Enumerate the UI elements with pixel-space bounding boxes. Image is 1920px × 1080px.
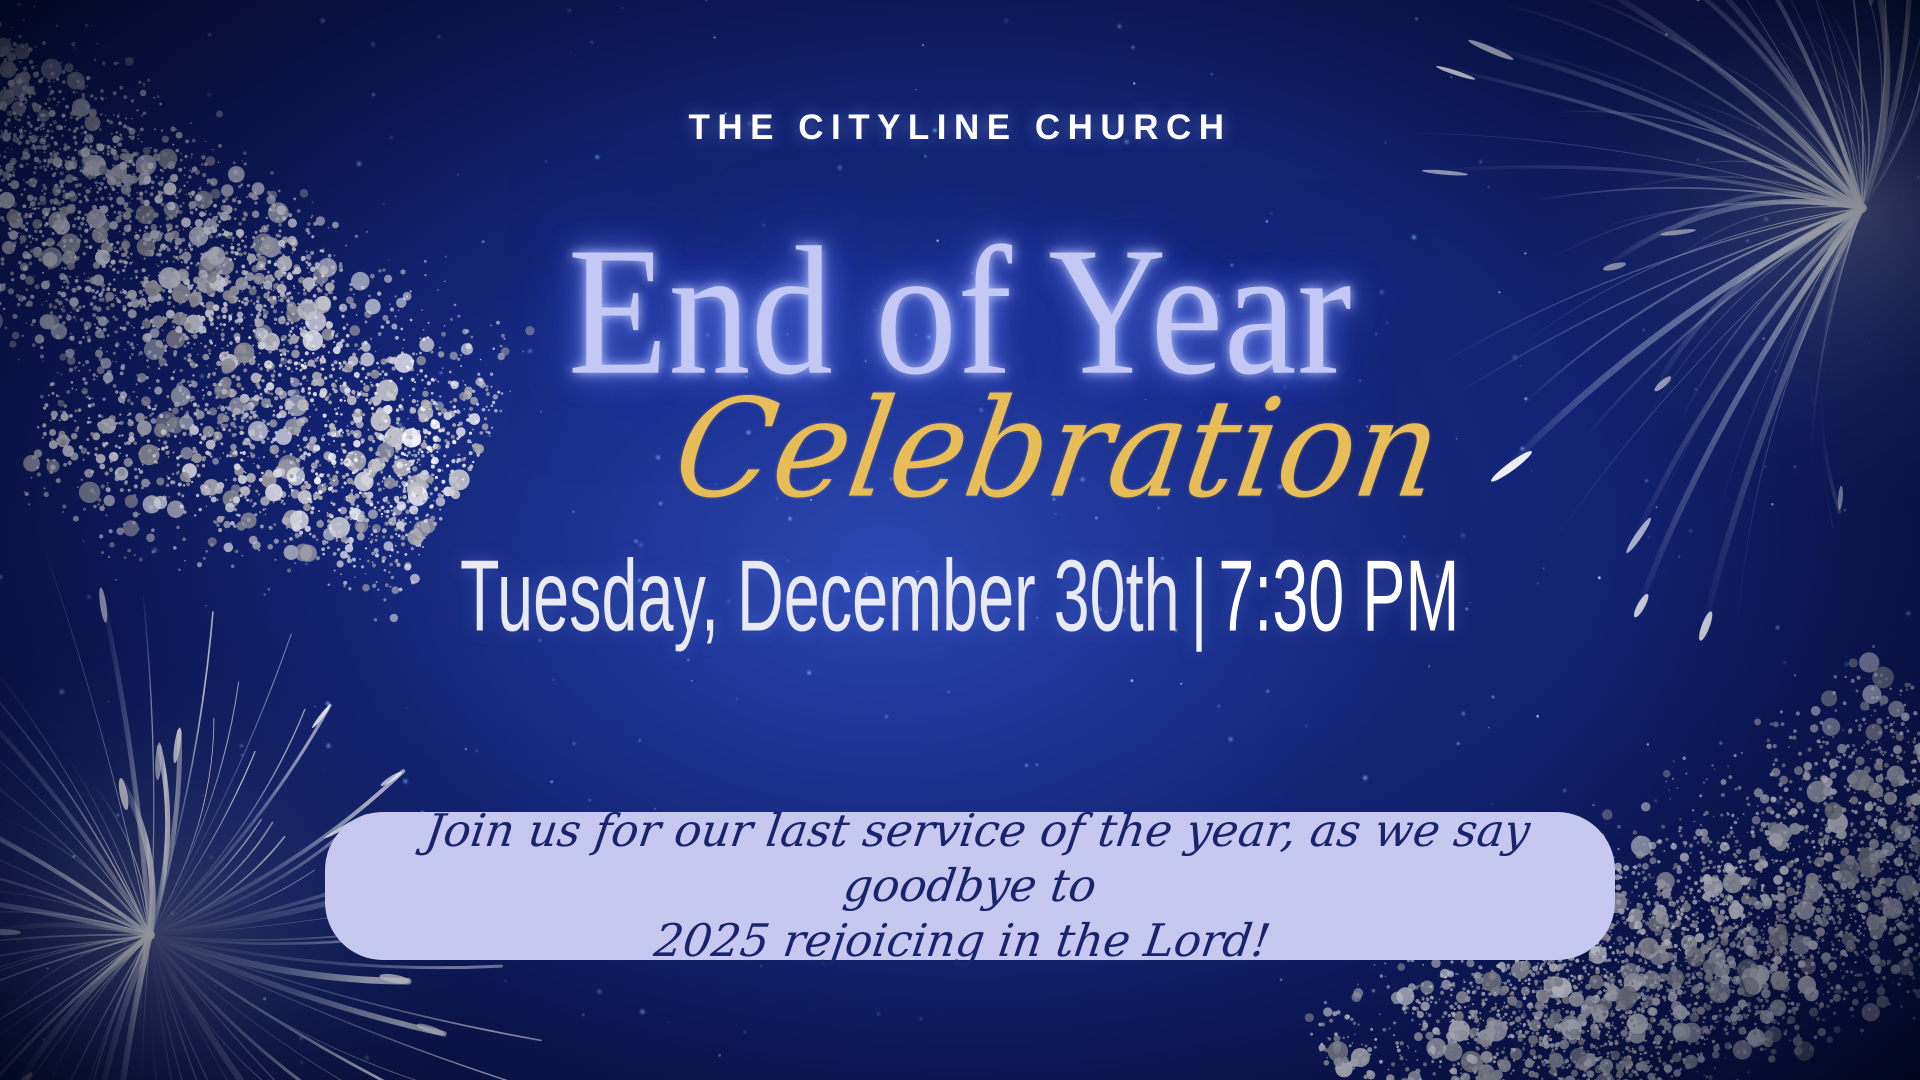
event-time: 7:30 PM (1219, 539, 1460, 652)
event-datetime: Tuesday, December 30th|7:30 PM (460, 545, 1459, 646)
blurb-panel: Join us for our last service of the year… (325, 812, 1615, 960)
blurb-text: Join us for our last service of the year… (313, 804, 1626, 969)
event-date: Tuesday, December 30th (460, 539, 1180, 652)
title-script-word: Celebration (666, 382, 1449, 518)
poster-canvas: THE CITYLINE CHURCH End of Year Celebrat… (0, 0, 1920, 1080)
datetime-separator: | (1191, 545, 1208, 646)
church-name: THE CITYLINE CHURCH (688, 108, 1231, 148)
